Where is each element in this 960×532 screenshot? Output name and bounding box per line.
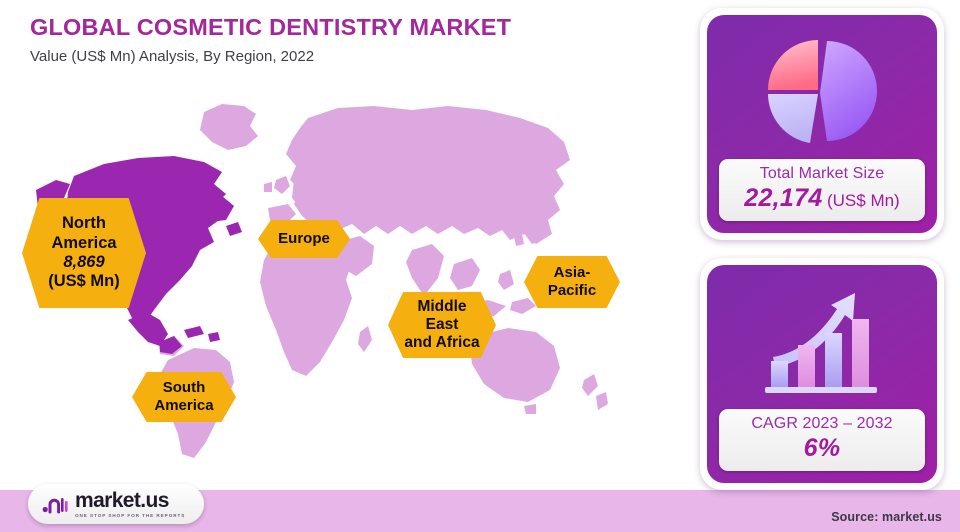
market-size-label-panel: Total Market Size 22,174 (US$ Mn) xyxy=(719,159,925,221)
map-label-europe[interactable]: Europe xyxy=(258,220,350,258)
region-name-line3: and Africa xyxy=(404,334,479,352)
region-units: (US$ Mn) xyxy=(48,272,120,291)
card-value: 22,174 xyxy=(744,184,822,212)
region-name-line2: Pacific xyxy=(548,282,596,300)
total-market-size-card: Total Market Size 22,174 (US$ Mn) xyxy=(700,8,944,240)
region-name-line1: Middle xyxy=(417,298,466,316)
map-label-middle-east-and-africa[interactable]: Middle East and Africa xyxy=(388,292,496,358)
card-units: (US$ Mn) xyxy=(827,191,900,210)
card-value: 6% xyxy=(804,434,841,462)
growth-chart-graphic xyxy=(719,275,925,409)
logo-wordmark: market.us xyxy=(75,490,185,511)
card-title: CAGR 2023 – 2032 xyxy=(725,415,919,433)
bar-chart-growth-icon xyxy=(757,283,887,401)
card-value-row: 22,174 (US$ Mn) xyxy=(725,184,919,213)
region-value: 8,869 xyxy=(63,253,104,272)
region-name-line1: South xyxy=(163,379,206,397)
map-label-asia-pacific[interactable]: Asia- Pacific xyxy=(524,256,620,308)
region-name-line2: East xyxy=(426,316,459,334)
logo-text: market.us ONE STOP SHOP FOR THE REPORTS xyxy=(75,490,185,518)
header: GLOBAL COSMETIC DENTISTRY MARKET Value (… xyxy=(30,14,511,65)
cagr-label-panel: CAGR 2023 – 2032 6% xyxy=(719,409,925,471)
market-us-logo[interactable]: market.us ONE STOP SHOP FOR THE REPORTS xyxy=(28,484,204,524)
market-us-logo-icon xyxy=(42,493,68,515)
region-name-line1: North xyxy=(62,214,106,233)
region-name-line2: America xyxy=(51,234,116,253)
region-name-line1: Europe xyxy=(278,230,330,248)
cagr-card: CAGR 2023 – 2032 6% xyxy=(700,258,944,490)
card-inner: Total Market Size 22,174 (US$ Mn) xyxy=(707,15,937,233)
source-attribution: Source: market.us xyxy=(831,510,942,524)
page-title: GLOBAL COSMETIC DENTISTRY MARKET xyxy=(30,14,511,41)
pie-chart-icon xyxy=(763,33,881,151)
region-name-line1: Asia- xyxy=(554,264,591,282)
card-title: Total Market Size xyxy=(725,165,919,183)
logo-tagline: ONE STOP SHOP FOR THE REPORTS xyxy=(75,513,185,518)
page-subtitle: Value (US$ Mn) Analysis, By Region, 2022 xyxy=(30,48,511,65)
pie-chart-graphic xyxy=(719,25,925,159)
region-name-line2: America xyxy=(154,397,213,415)
map-label-north-america[interactable]: North America 8,869 (US$ Mn) xyxy=(22,198,146,308)
card-inner: CAGR 2023 – 2032 6% xyxy=(707,265,937,483)
card-value-row: 6% xyxy=(725,434,919,463)
map-label-south-america[interactable]: South America xyxy=(132,372,236,422)
